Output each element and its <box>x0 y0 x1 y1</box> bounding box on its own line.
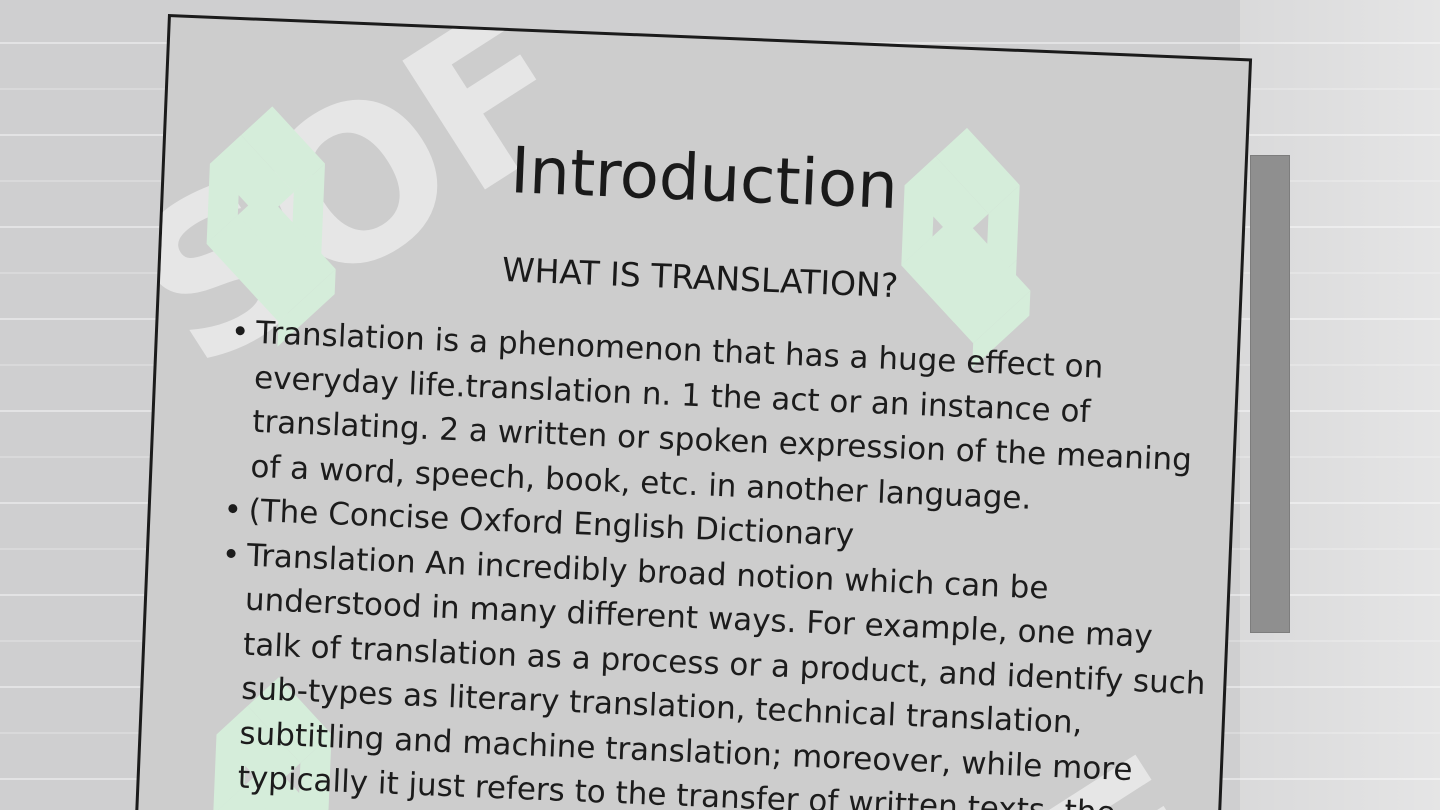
bullet-marker-icon: • <box>221 532 241 577</box>
screenshot-stage: SOF OFF <box>0 0 1440 810</box>
bullet-list: • Translation is a phenomenon that has a… <box>209 310 1227 810</box>
bullet-marker-icon: • <box>223 488 243 533</box>
list-item-text: Translation An incredibly broad notion w… <box>237 537 1206 810</box>
slide-page: SOF OFF <box>135 14 1252 810</box>
list-item: • Translation An incredibly broad notion… <box>209 532 1218 810</box>
slide-container: SOF OFF <box>135 14 1277 810</box>
list-item-text: Translation is a phenomenon that has a h… <box>250 315 1193 516</box>
bullet-marker-icon: • <box>230 310 250 355</box>
